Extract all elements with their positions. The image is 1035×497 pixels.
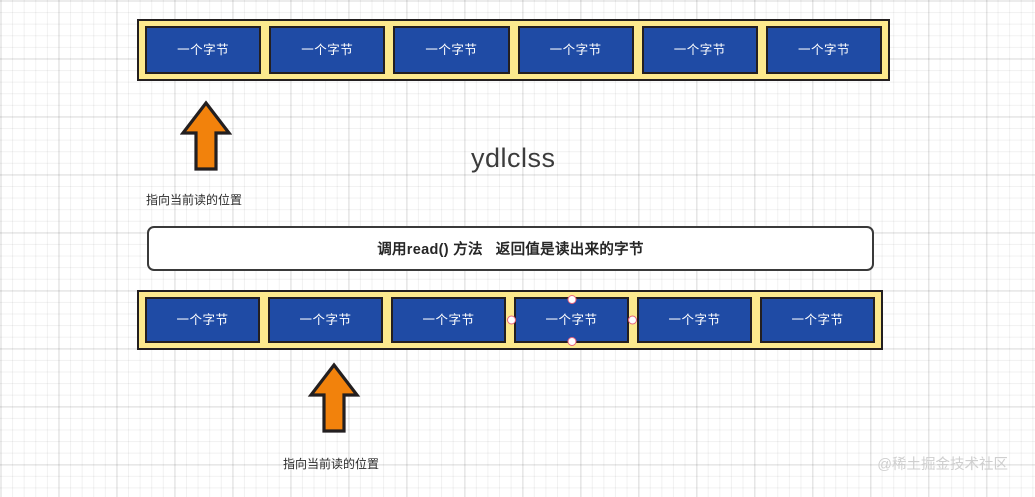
selection-handle-right[interactable] bbox=[628, 316, 637, 325]
diagram-canvas: 一个字节 一个字节 一个字节 一个字节 一个字节 一个字节 指向当前读的位置 y… bbox=[0, 0, 1035, 497]
arrow-up-icon[interactable] bbox=[307, 362, 361, 439]
byte-cell[interactable]: 一个字节 bbox=[637, 297, 752, 343]
byte-stream-before-read[interactable]: 一个字节 一个字节 一个字节 一个字节 一个字节 一个字节 bbox=[137, 19, 890, 81]
byte-cell-selected[interactable]: 一个字节 bbox=[514, 297, 629, 343]
watermark: @稀土掘金技术社区 bbox=[877, 453, 1008, 474]
selection-handle-left[interactable] bbox=[507, 316, 516, 325]
pointer-caption-bottom: 指向当前读的位置 bbox=[283, 455, 379, 472]
byte-cell-label: 一个字节 bbox=[176, 314, 228, 327]
read-call-box[interactable]: 调用read() 方法 返回值是读出来的字节 bbox=[147, 226, 874, 271]
read-call-label: 调用read() 方法 返回值是读出来的字节 bbox=[377, 238, 644, 259]
byte-cell-label: 一个字节 bbox=[301, 44, 353, 57]
byte-cell[interactable]: 一个字节 bbox=[145, 297, 260, 343]
byte-cell[interactable]: 一个字节 bbox=[268, 297, 383, 343]
byte-cell-label: 一个字节 bbox=[791, 314, 843, 327]
byte-cell[interactable]: 一个字节 bbox=[145, 26, 261, 74]
selection-handle-bottom[interactable] bbox=[567, 337, 576, 346]
byte-cell[interactable]: 一个字节 bbox=[393, 26, 509, 74]
byte-cell-label: 一个字节 bbox=[668, 314, 720, 327]
byte-cell-label: 一个字节 bbox=[422, 314, 474, 327]
byte-cell-label: 一个字节 bbox=[177, 44, 229, 57]
byte-cell-label: 一个字节 bbox=[550, 44, 602, 57]
byte-cell-label: 一个字节 bbox=[674, 44, 726, 57]
byte-stream-after-read[interactable]: 一个字节 一个字节 一个字节 一个字节 一个字节 一个字节 bbox=[137, 290, 883, 350]
byte-cell-label: 一个字节 bbox=[425, 44, 477, 57]
pointer-caption-top: 指向当前读的位置 bbox=[146, 191, 242, 208]
byte-cell[interactable]: 一个字节 bbox=[760, 297, 875, 343]
byte-cell-label: 一个字节 bbox=[545, 314, 597, 327]
byte-cell-label: 一个字节 bbox=[798, 44, 850, 57]
byte-cell[interactable]: 一个字节 bbox=[518, 26, 634, 74]
scribble-title: ydlclss bbox=[471, 143, 556, 174]
byte-cell[interactable]: 一个字节 bbox=[766, 26, 882, 74]
byte-cell[interactable]: 一个字节 bbox=[642, 26, 758, 74]
arrow-up-icon[interactable] bbox=[180, 100, 232, 177]
selection-handle-top[interactable] bbox=[567, 295, 576, 304]
byte-cell-label: 一个字节 bbox=[299, 314, 351, 327]
byte-cell[interactable]: 一个字节 bbox=[269, 26, 385, 74]
byte-cell[interactable]: 一个字节 bbox=[391, 297, 506, 343]
